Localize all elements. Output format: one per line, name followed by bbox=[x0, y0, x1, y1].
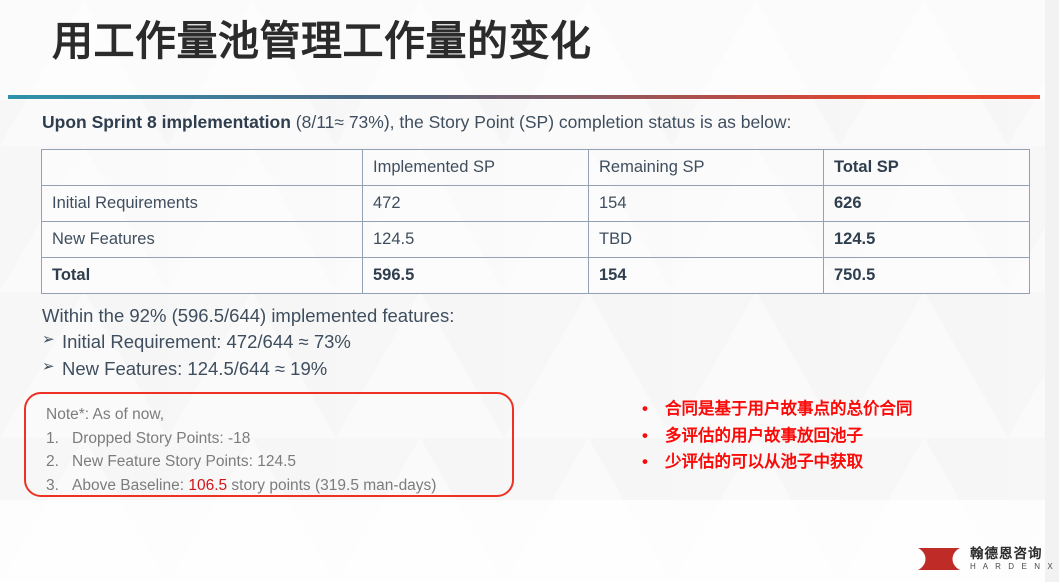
cell-initial-remaining: 154 bbox=[589, 186, 824, 222]
story-point-table: Implemented SP Remaining SP Total SP Ini… bbox=[41, 149, 1030, 294]
note-callout-box: Note*: As of now, 1.Dropped Story Points… bbox=[24, 392, 514, 497]
cell-total-implemented: 596.5 bbox=[363, 258, 589, 294]
page-title: 用工作量池管理工作量的变化 bbox=[52, 16, 592, 67]
slide-canvas: 用工作量池管理工作量的变化 Upon Sprint 8 implementati… bbox=[0, 0, 1059, 582]
table-header-cell-blank bbox=[42, 150, 363, 186]
red-bullet-item-1-label: 合同是基于用户故事点的总价合同 bbox=[665, 400, 913, 418]
note-item-2-number: 2. bbox=[46, 450, 72, 474]
note-item-3: 3.Above Baseline: 106.5 story points (31… bbox=[46, 474, 436, 498]
note-item-1-text: Dropped Story Points: -18 bbox=[72, 430, 250, 447]
note-item-3-highlight-value: 106.5 bbox=[188, 477, 227, 494]
brand-name-en: H A R D E N X bbox=[970, 563, 1055, 571]
dot-bullet-icon: • bbox=[642, 448, 648, 476]
hourglass-logo-icon bbox=[917, 547, 961, 571]
note-item-3-number: 3. bbox=[46, 474, 72, 498]
subtitle-rest: (8/11≈ 73%), the Story Point (SP) comple… bbox=[291, 112, 791, 132]
row-label-total: Total bbox=[42, 258, 363, 294]
within-bullet-initial-requirement: ➢ Initial Requirement: 472/644 ≈ 73% bbox=[42, 329, 454, 355]
cell-total-total: 750.5 bbox=[824, 258, 1030, 294]
within-bullet-new-features: ➢ New Features: 124.5/644 ≈ 19% bbox=[42, 356, 454, 382]
brand-logo-text: 翰德恩咨询 H A R D E N X bbox=[970, 547, 1055, 572]
brand-name-cn: 翰德恩咨询 bbox=[970, 547, 1055, 561]
arrow-bullet-icon: ➢ bbox=[42, 356, 55, 377]
within-implemented-block: Within the 92% (596.5/644) implemented f… bbox=[42, 303, 454, 382]
cell-newfeatures-total: 124.5 bbox=[824, 222, 1030, 258]
note-item-2: 2.New Feature Story Points: 124.5 bbox=[46, 450, 436, 474]
cell-initial-implemented: 472 bbox=[363, 186, 589, 222]
table-header-row: Implemented SP Remaining SP Total SP bbox=[42, 150, 1030, 186]
table-header-cell-total: Total SP bbox=[824, 150, 1030, 186]
subtitle-bold-lead: Upon Sprint 8 implementation bbox=[42, 112, 291, 132]
right-edge-strip bbox=[1045, 0, 1059, 582]
arrow-bullet-icon: ➢ bbox=[42, 329, 55, 350]
within-bullet-new-features-label: New Features: 124.5/644 ≈ 19% bbox=[62, 358, 327, 379]
within-bullet-initial-requirement-label: Initial Requirement: 472/644 ≈ 73% bbox=[62, 331, 351, 352]
note-item-1-number: 1. bbox=[46, 427, 72, 451]
red-bullet-item-2: • 多评估的用户故事放回池子 bbox=[639, 423, 913, 450]
table-row: New Features 124.5 TBD 124.5 bbox=[42, 222, 1030, 258]
title-divider bbox=[8, 95, 1040, 99]
cell-initial-total: 626 bbox=[824, 186, 1030, 222]
table-row: Initial Requirements 472 154 626 bbox=[42, 186, 1030, 222]
table-row: Total 596.5 154 750.5 bbox=[42, 258, 1030, 294]
red-bullet-list: • 合同是基于用户故事点的总价合同 • 多评估的用户故事放回池子 • 少评估的可… bbox=[639, 396, 913, 476]
note-heading: Note*: As of now, bbox=[46, 403, 436, 427]
dot-bullet-icon: • bbox=[642, 422, 648, 450]
table-header-cell-remaining: Remaining SP bbox=[589, 150, 824, 186]
brand-logo: 翰德恩咨询 H A R D E N X bbox=[917, 544, 1055, 574]
red-bullet-item-3-label: 少评估的可以从池子中获取 bbox=[665, 453, 863, 471]
cell-newfeatures-remaining: TBD bbox=[589, 222, 824, 258]
table-header-cell-implemented: Implemented SP bbox=[363, 150, 589, 186]
cell-newfeatures-implemented: 124.5 bbox=[363, 222, 589, 258]
note-item-3-text-before: Above Baseline: bbox=[72, 477, 188, 494]
red-bullet-item-3: • 少评估的可以从池子中获取 bbox=[639, 449, 913, 476]
red-bullet-item-1: • 合同是基于用户故事点的总价合同 bbox=[639, 396, 913, 423]
note-item-1: 1.Dropped Story Points: -18 bbox=[46, 427, 436, 451]
subtitle: Upon Sprint 8 implementation (8/11≈ 73%)… bbox=[42, 112, 791, 133]
row-label-new-features: New Features bbox=[42, 222, 363, 258]
note-item-3-text-after: story points (319.5 man-days) bbox=[227, 477, 436, 494]
red-bullet-item-2-label: 多评估的用户故事放回池子 bbox=[665, 427, 863, 445]
dot-bullet-icon: • bbox=[642, 395, 648, 423]
note-item-2-text: New Feature Story Points: 124.5 bbox=[72, 453, 296, 470]
within-lead-text: Within the 92% (596.5/644) implemented f… bbox=[42, 303, 454, 329]
cell-total-remaining: 154 bbox=[589, 258, 824, 294]
row-label-initial-requirements: Initial Requirements bbox=[42, 186, 363, 222]
note-content: Note*: As of now, 1.Dropped Story Points… bbox=[46, 403, 436, 497]
